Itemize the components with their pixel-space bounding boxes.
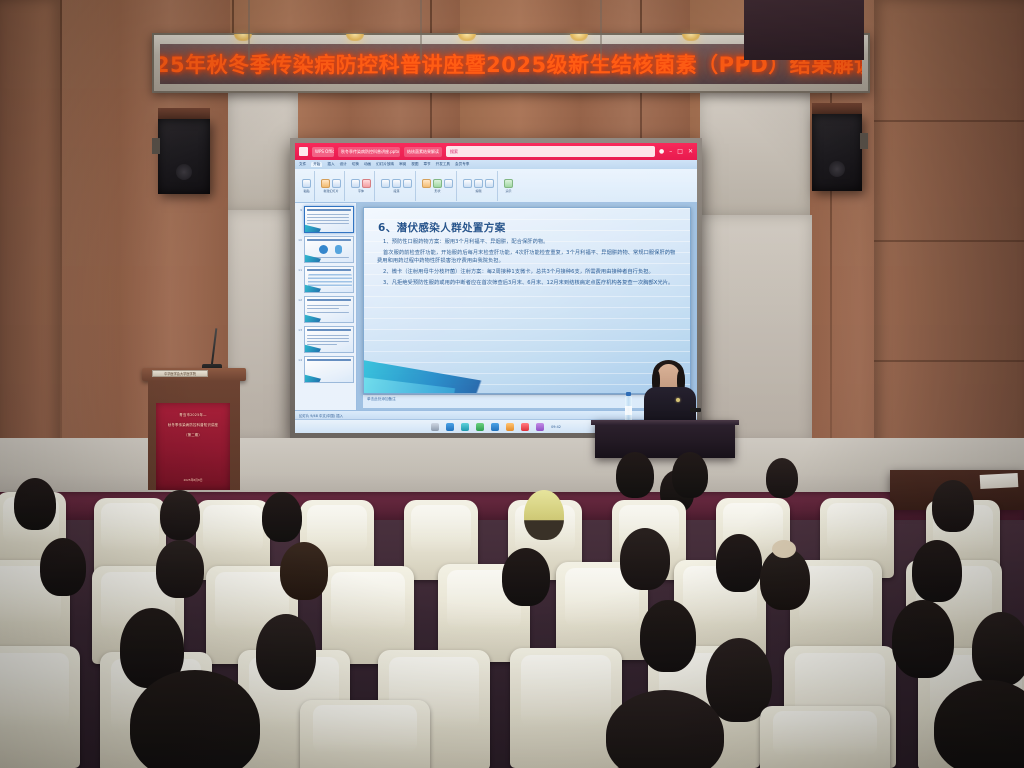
mail-icon[interactable] xyxy=(506,423,514,431)
thumbnail-item[interactable]: 11 xyxy=(297,266,354,293)
speaker-cone-icon xyxy=(176,164,192,180)
secondary-tab[interactable]: 结核菌素结果解读 xyxy=(404,147,442,157)
ribbon-tab-4[interactable]: 切换 xyxy=(352,162,359,167)
thumbnail-preview[interactable] xyxy=(304,236,354,263)
ribbon-group-paragraph[interactable]: 段落 xyxy=(378,171,416,201)
podium-banner-line-2: 秋冬季传染病防控科普知识讲座 xyxy=(168,422,218,427)
stage-dark-recess xyxy=(744,0,864,60)
audience-head xyxy=(932,480,974,532)
audience-head xyxy=(280,542,328,600)
bullets-icon[interactable] xyxy=(403,179,412,188)
ribbon-tab-7[interactable]: 审阅 xyxy=(399,162,406,167)
audience-head-with-cap xyxy=(524,490,564,540)
ribbon-group-shapes[interactable]: 形状 xyxy=(419,171,457,201)
ribbon-tab-5[interactable]: 动画 xyxy=(364,162,371,167)
layout-icon[interactable] xyxy=(332,179,341,188)
slide-thumbnail-panel[interactable]: 9 10 xyxy=(295,203,357,410)
clipboard-icon[interactable] xyxy=(302,179,311,188)
desk-microphone-icon xyxy=(690,408,701,412)
wps-icon[interactable] xyxy=(461,423,469,431)
settings-icon[interactable] xyxy=(536,423,544,431)
ribbon-tab-6[interactable]: 幻灯片放映 xyxy=(376,162,394,167)
ribbon-tab-11[interactable]: 会员专享 xyxy=(455,162,469,167)
ribbon-group-label-0: 粘贴 xyxy=(303,189,309,193)
audience-head xyxy=(766,458,798,498)
status-bar: 幻灯片 9/48 中文(中国) 插入 78% xyxy=(295,410,697,419)
window-controls[interactable]: ● – □ ✕ xyxy=(659,149,693,155)
thumbnail-number: 10 xyxy=(297,236,302,242)
audience-head xyxy=(892,600,954,678)
wood-seam xyxy=(874,360,1024,362)
slide-paragraph-2: 2、微卡（注射用母牛分枝杆菌）注射方案：每2周接种1支微卡，总共3个月接种6支，… xyxy=(377,268,678,276)
thumbnail-item[interactable]: 14 xyxy=(297,356,354,383)
audience-head xyxy=(502,548,550,606)
thumbnail-number: 11 xyxy=(297,266,302,272)
thumbnail-item[interactable]: 9 xyxy=(297,206,354,233)
wall-seam xyxy=(60,0,62,500)
podium-banner-date: 2025年8月8日 xyxy=(183,478,202,482)
ribbon-tab-10[interactable]: 开发工具 xyxy=(436,162,450,167)
audience-head xyxy=(912,540,962,602)
ribbon-group-label-6: 演示 xyxy=(505,189,511,193)
audience-head xyxy=(262,492,302,542)
ribbon-tab-2[interactable]: 插入 xyxy=(327,162,334,167)
editor-workspace: 9 10 xyxy=(295,203,697,410)
align-left-icon[interactable] xyxy=(381,179,390,188)
slide-paragraph-0: 1、预防性口服药物方案：服用3个月利福平、异烟肼，配合保肝药物。 xyxy=(377,238,678,246)
ribbon-tab-bar[interactable]: 文件 开始 插入 设计 切换 动画 幻灯片放映 审阅 视图 章节 开发工具 会员… xyxy=(295,160,697,169)
chair xyxy=(0,646,80,768)
ribbon-tab-3[interactable]: 设计 xyxy=(340,162,347,167)
thumbnail-number: 9 xyxy=(297,206,302,212)
podium-banner: 青岛市2025年— 秋冬季传染病防控科普知识讲座 （第二期） 2025年8月8日 xyxy=(156,403,230,490)
ribbon-group-label-2: 字体 xyxy=(358,189,364,193)
projected-image: WPS Office 秋冬季传染病防控科普讲座.pptx 结核菌素结果解读 搜索… xyxy=(295,143,697,433)
start-icon[interactable] xyxy=(431,423,439,431)
audience-head xyxy=(716,534,762,592)
thumbnail-number: 14 xyxy=(297,356,302,362)
ribbon-group-new-slide[interactable]: 新建幻灯片 xyxy=(318,171,345,201)
thumbnail-preview[interactable] xyxy=(304,296,354,323)
explorer-icon[interactable] xyxy=(446,423,454,431)
audience-head xyxy=(256,614,316,690)
font-color-icon[interactable] xyxy=(362,179,371,188)
thumbnail-item[interactable]: 12 xyxy=(297,296,354,323)
ribbon-group-label-3: 段落 xyxy=(393,189,399,193)
search-input[interactable]: 搜索 xyxy=(446,146,655,157)
paper-sheet xyxy=(980,473,1019,489)
minimize-icon[interactable]: – xyxy=(669,149,672,155)
replace-icon[interactable] xyxy=(474,179,483,188)
left-wall-speaker xyxy=(158,108,210,194)
podium-nameplate: 中华医学会大学医学院 xyxy=(152,370,208,377)
app-titlebar: WPS Office 秋冬季传染病防控科普讲座.pptx 结核菌素结果解读 搜索… xyxy=(295,143,697,160)
banner-spotlights xyxy=(234,34,794,44)
media-icon[interactable] xyxy=(521,423,529,431)
document-tab[interactable]: 秋冬季传染病防控科普讲座.pptx xyxy=(338,147,400,157)
speaker-cone-icon xyxy=(829,161,845,177)
ribbon-group-present[interactable]: 演示 xyxy=(501,171,516,201)
plaster-panel-right xyxy=(700,92,810,217)
thumbnail-preview[interactable] xyxy=(304,266,354,293)
audience-head xyxy=(40,538,86,596)
close-icon[interactable]: ✕ xyxy=(688,149,693,155)
chair xyxy=(300,700,430,768)
audience-head xyxy=(672,452,708,498)
presenter xyxy=(640,360,700,426)
new-slide-icon[interactable] xyxy=(321,179,330,188)
audience-head xyxy=(620,528,670,590)
ribbon-group-paste[interactable]: 粘贴 xyxy=(299,171,315,201)
maximize-icon[interactable]: □ xyxy=(677,149,683,155)
audience-head xyxy=(640,600,696,672)
podium-body: 青岛市2025年— 秋冬季传染病防控科普知识讲座 （第二期） 2025年8月8日 xyxy=(148,381,240,490)
wps-office-window: WPS Office 秋冬季传染病防控科普讲座.pptx 结核菌素结果解读 搜索… xyxy=(295,143,697,433)
ribbon-group-font[interactable]: 字体 xyxy=(348,171,375,201)
audience-head xyxy=(156,540,204,598)
account-icon[interactable]: ● xyxy=(659,149,664,155)
thumbnail-preview[interactable] xyxy=(304,326,354,353)
plaster-panel-left xyxy=(228,92,298,212)
align-center-icon[interactable] xyxy=(392,179,401,188)
ribbon-group-label-4: 形状 xyxy=(434,189,440,193)
podium: 中华医学会大学医学院 青岛市2025年— 秋冬季传染病防控科普知识讲座 （第二期… xyxy=(148,368,240,490)
thumbnail-preview[interactable] xyxy=(304,206,354,233)
wechat-icon[interactable] xyxy=(476,423,484,431)
presenter-badge-icon xyxy=(676,398,680,402)
present-icon[interactable] xyxy=(504,179,513,188)
app-name-label: WPS Office xyxy=(312,147,334,157)
thumbnail-item[interactable]: 10 xyxy=(297,236,354,263)
arrange-icon[interactable] xyxy=(433,179,442,188)
head-table xyxy=(595,420,735,458)
slide-paragraph-1: 首次服药前检查肝功能，开始服药后每月末检查肝功能，4次肝功能检查重复，3个月利福… xyxy=(377,249,678,265)
podium-banner-line-3: （第二期） xyxy=(184,432,202,437)
chair xyxy=(510,648,622,768)
podium-banner-line-1: 青岛市2025年— xyxy=(179,412,206,417)
slide-paragraph-3: 3、凡拒绝受预防性服药或用药中断者应在首次筛查后3月末、6月末、12月末到结核病… xyxy=(377,279,678,287)
thumbnail-number: 13 xyxy=(297,326,302,332)
hair-bun xyxy=(772,540,796,558)
ribbon-tab-0[interactable]: 文件 xyxy=(299,162,306,167)
wood-seam xyxy=(874,120,1024,122)
select-icon[interactable] xyxy=(485,179,494,188)
audience-head xyxy=(160,490,200,540)
textbox-icon[interactable] xyxy=(444,179,453,188)
thumbnail-item[interactable]: 13 xyxy=(297,326,354,353)
ribbon-tab-9[interactable]: 章节 xyxy=(423,162,430,167)
chair xyxy=(760,706,890,768)
audience-head xyxy=(972,612,1024,686)
notes-placeholder: 单击此处添加备注 xyxy=(367,397,687,402)
status-left-text: 幻灯片 9/48 中文(中国) 插入 xyxy=(299,413,343,418)
audience-head xyxy=(14,478,56,530)
audience-head xyxy=(616,452,654,498)
taskbar-clock: 09:42 xyxy=(551,425,561,429)
wood-seam xyxy=(874,240,1024,242)
browser-icon[interactable] xyxy=(491,423,499,431)
thumbnail-preview[interactable] xyxy=(304,356,354,383)
ribbon-group-label-5: 编辑 xyxy=(475,189,481,193)
thumbnail-number: 12 xyxy=(297,296,302,302)
ribbon-toolbar[interactable]: 粘贴 新建幻灯片 字体 段落 xyxy=(295,169,697,203)
ribbon-tab-8[interactable]: 视图 xyxy=(411,162,418,167)
find-icon[interactable] xyxy=(463,179,472,188)
lecture-hall-photo: 2025年秋冬季传染病防控科普讲座暨2025级新生结核菌素（PPD）结果解读会 … xyxy=(0,0,1024,768)
plaster-column-right xyxy=(700,215,812,443)
wps-logo-icon xyxy=(299,147,308,156)
ribbon-group-edit[interactable]: 编辑 xyxy=(460,171,498,201)
ribbon-tab-1[interactable]: 开始 xyxy=(311,162,322,167)
right-wall-speaker xyxy=(812,103,862,191)
font-icon[interactable] xyxy=(351,179,360,188)
slide-title: 6、潜伏感染人群处置方案 xyxy=(378,220,506,235)
left-wood-wall xyxy=(0,0,60,500)
shapes-icon[interactable] xyxy=(422,179,431,188)
slide-body-text: 1、预防性口服药物方案：服用3个月利福平、异烟肼，配合保肝药物。 首次服药前检查… xyxy=(377,238,678,290)
ribbon-group-label-1: 新建幻灯片 xyxy=(323,189,338,193)
